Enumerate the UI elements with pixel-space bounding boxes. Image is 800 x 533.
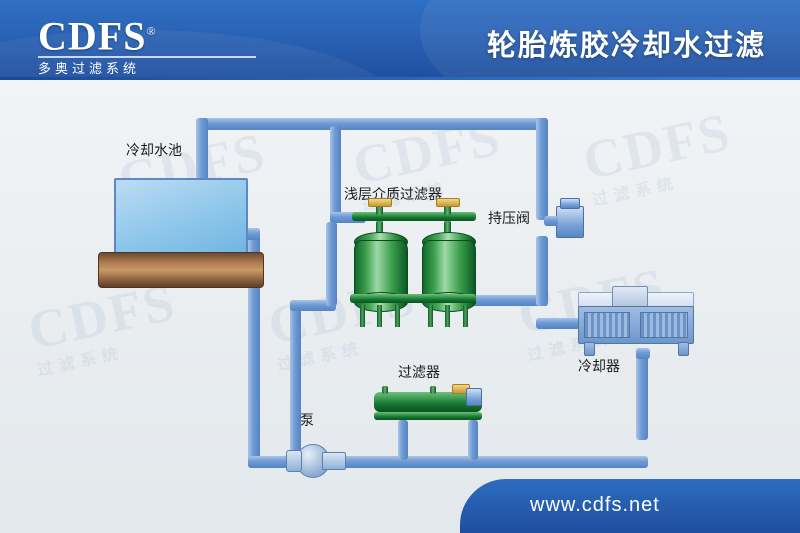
cooling-pool-basin [98,252,264,288]
filter-top-stub-left [382,386,388,394]
pressure-valve-inlet-stub [544,216,558,226]
pipe-right-riser [536,118,548,220]
pipe-chiller-return [636,350,648,440]
pressure-valve-actuator [560,198,580,209]
watermark-sub: 过滤系统 [35,326,186,380]
label-pump: 泵 [300,410,314,430]
label-filter: 过滤器 [398,362,440,382]
media-filter-top-manifold [352,212,476,221]
logo-underline [38,56,256,58]
logo-wordmark: CDFS® [38,10,268,57]
filter-lower-manifold [374,412,482,420]
chiller-coil-right [640,312,688,338]
logo-main-text: CDFS [38,13,146,58]
filter-top-stub-mid [430,386,436,394]
watermark-sub: 过滤系统 [590,156,741,210]
pipe-chiller-return-elbow [636,348,650,359]
logo-registered-mark: ® [146,24,156,38]
chiller-leg-right [678,342,689,356]
pipe-riser-to-media [326,222,337,306]
tank-left-leg-1 [360,305,365,327]
diagram-page: CDFS® 多奥过滤系统 轮胎炼胶冷却水过滤 CDFS 过滤系统 CDFS 过滤… [0,0,800,533]
watermark-main: CDFS [579,105,736,187]
watermark: CDFS 过滤系统 [579,105,741,210]
pipe-to-media-filter [330,126,341,218]
pump-motor [286,450,302,472]
tank-right-leg-2 [445,305,450,327]
tank-right-leg-3 [463,305,468,327]
pipe-top-main [196,118,548,130]
pump-discharge-nozzle [322,452,346,470]
label-chiller: 冷却器 [578,356,620,376]
chiller-leg-left [584,342,595,356]
pipe-chiller-inlet [536,318,580,329]
logo-subtitle: 多奥过滤系统 [38,58,268,77]
media-filter-bottom-manifold [350,294,476,303]
pressure-valve-body [556,206,584,238]
page-title: 轮胎炼胶冷却水过滤 [487,22,766,64]
footer-url[interactable]: www.cdfs.net [530,494,660,517]
brand-logo: CDFS® 多奥过滤系统 [38,10,268,72]
label-cooling-pool: 冷却水池 [126,140,182,160]
label-pressure-valve: 持压阀 [488,208,530,228]
tank-left-leg-2 [377,305,382,327]
tank-right-leg-1 [428,305,433,327]
label-media-filter: 浅层介质过滤器 [344,184,442,204]
watermark: CDFS 过滤系统 [24,275,186,380]
filter-control-valve [466,388,482,406]
pipe-valve-down [536,236,548,306]
page-header: CDFS® 多奥过滤系统 轮胎炼胶冷却水过滤 [0,0,800,80]
media-filter-valve-right [436,198,460,207]
media-filter-valve-left [368,198,392,207]
pipe-filter-inlet [398,420,408,460]
tank-left-leg-3 [395,305,400,327]
pipe-filter-outlet [468,420,478,460]
page-footer: www.cdfs.net [460,479,800,533]
cooling-pool-water [114,178,248,260]
chiller-coil-left [584,312,630,338]
